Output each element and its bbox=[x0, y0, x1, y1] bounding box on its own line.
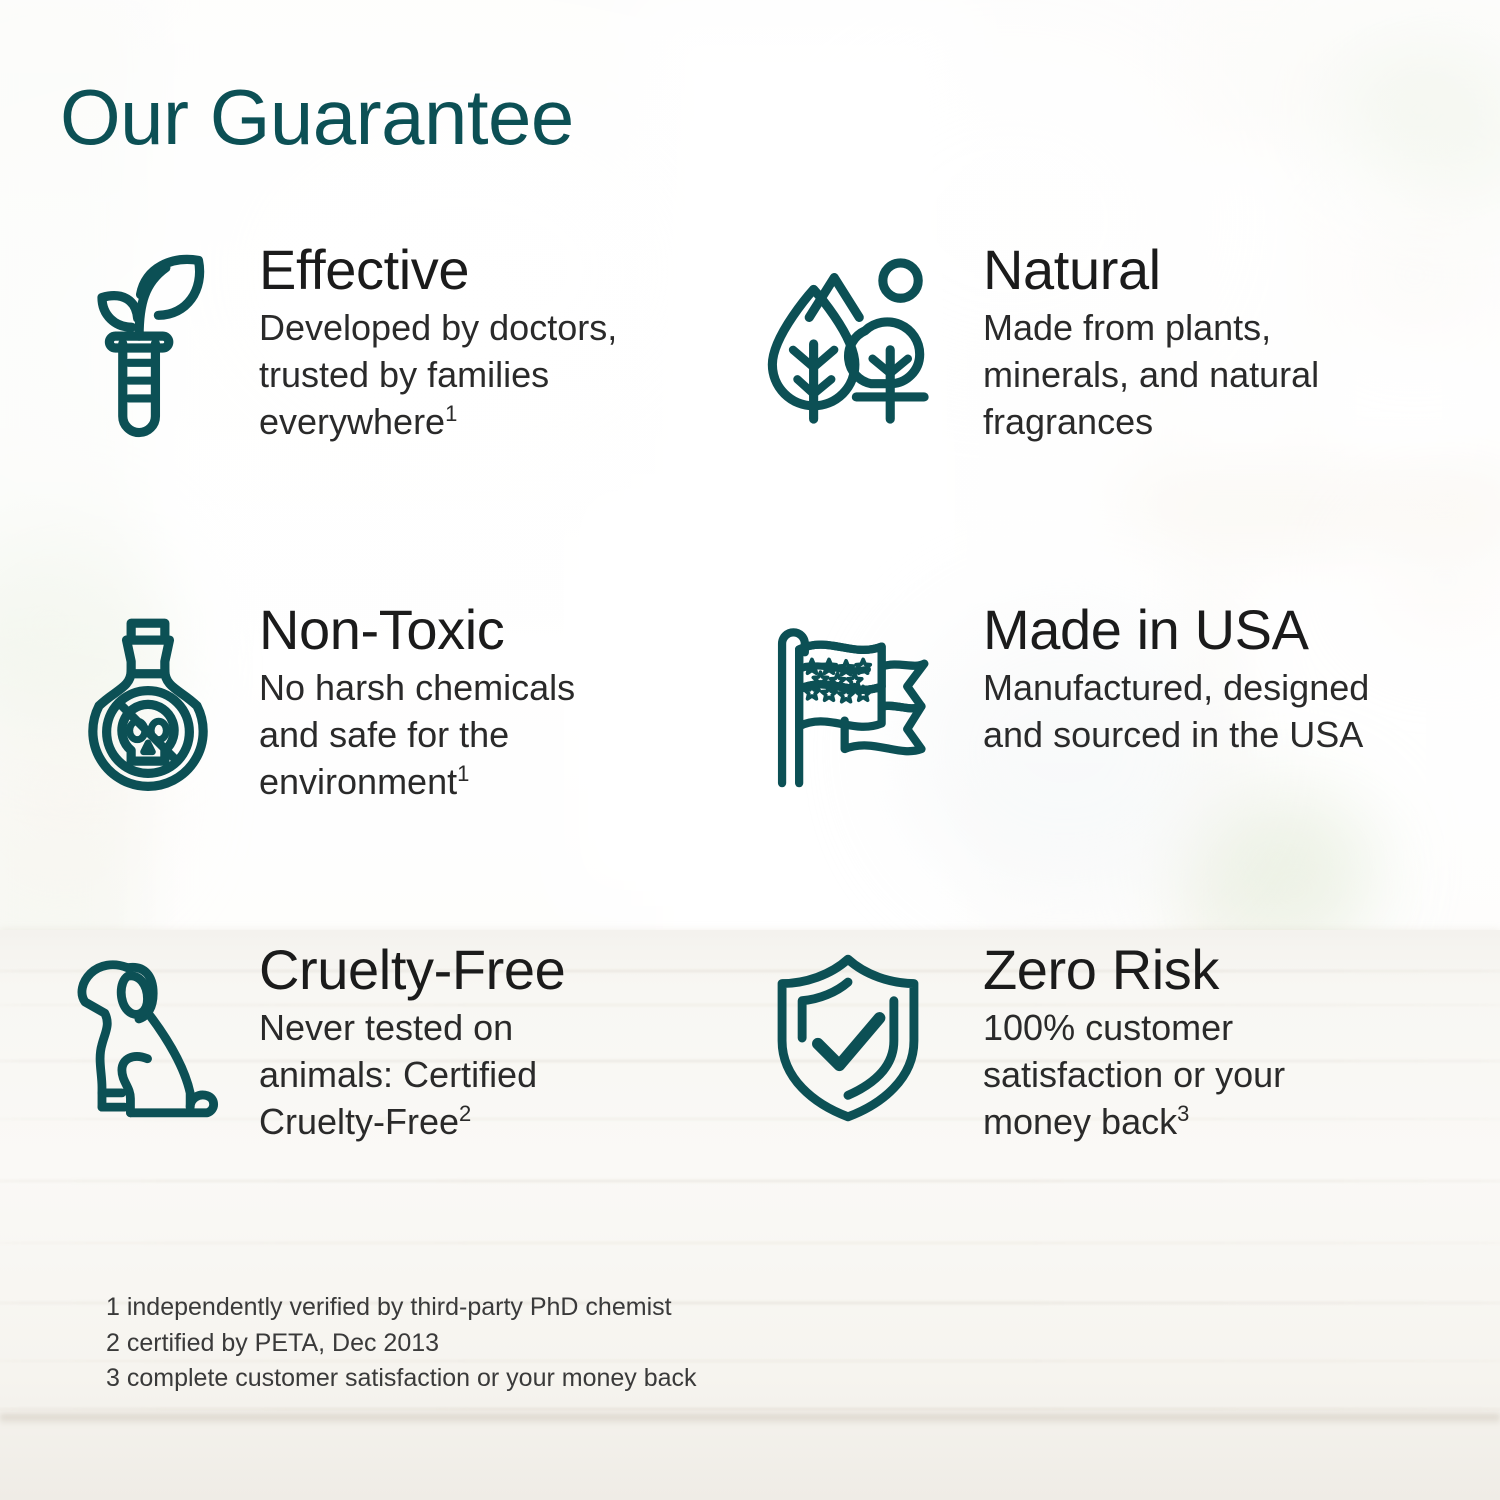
footnotes: 1 independently verified by third-party … bbox=[106, 1290, 697, 1397]
feature-text: Zero Risk 100% customer satisfaction or … bbox=[959, 940, 1440, 1146]
feature-body-line: minerals, and natural bbox=[983, 354, 1319, 395]
feature-body: 100% customer satisfaction or your money… bbox=[983, 1005, 1440, 1145]
feature-heading: Made in USA bbox=[983, 600, 1440, 659]
footnote-marker: 1 bbox=[457, 761, 469, 786]
trees-mountain-sun-icon bbox=[760, 240, 935, 427]
feature-body-line: everywhere bbox=[259, 401, 445, 442]
feature-zero-risk: Zero Risk 100% customer satisfaction or … bbox=[760, 940, 1440, 1240]
feature-body-line: satisfaction or your bbox=[983, 1054, 1285, 1095]
feature-body-line: Manufactured, designed bbox=[983, 667, 1369, 708]
feature-heading: Effective bbox=[259, 240, 760, 299]
feature-body-line: 100% customer bbox=[983, 1007, 1233, 1048]
feature-body-line: Never tested on bbox=[259, 1007, 513, 1048]
feature-cruelty-free: Cruelty-Free Never tested on animals: Ce… bbox=[60, 940, 760, 1240]
feature-body: No harsh chemicals and safe for the envi… bbox=[259, 665, 760, 805]
footnote-marker: 3 bbox=[1177, 1101, 1189, 1126]
footnote-item: 2 certified by PETA, Dec 2013 bbox=[106, 1326, 697, 1362]
feature-text: Cruelty-Free Never tested on animals: Ce… bbox=[259, 940, 760, 1146]
feature-body-line: No harsh chemicals bbox=[259, 667, 575, 708]
footnote-item: 3 complete customer satisfaction or your… bbox=[106, 1361, 697, 1397]
content-layer: Our Guarantee Effective bbox=[0, 0, 1500, 1500]
footnote-item: 1 independently verified by third-party … bbox=[106, 1290, 697, 1326]
feature-effective: Effective Developed by doctors, trusted … bbox=[60, 240, 760, 600]
guarantee-infographic: Our Guarantee Effective bbox=[0, 0, 1500, 1500]
feature-body-line: fragrances bbox=[983, 401, 1153, 442]
feature-non-toxic: Non-Toxic No harsh chemicals and safe fo… bbox=[60, 600, 760, 940]
feature-body: Manufactured, designed and sourced in th… bbox=[983, 665, 1440, 759]
feature-text: Made in USA Manufactured, designed and s… bbox=[959, 600, 1440, 759]
feature-body-line: money back bbox=[983, 1101, 1177, 1142]
usa-flag-icon bbox=[760, 600, 935, 791]
feature-made-in-usa: Made in USA Manufactured, designed and s… bbox=[760, 600, 1440, 940]
feature-body: Never tested on animals: Certified Cruel… bbox=[259, 1005, 760, 1145]
feature-body-line: Cruelty-Free bbox=[259, 1101, 459, 1142]
test-tube-leaf-icon bbox=[60, 240, 235, 440]
shield-check-icon bbox=[760, 940, 935, 1124]
feature-text: Effective Developed by doctors, trusted … bbox=[259, 240, 760, 446]
feature-body-line: trusted by families bbox=[259, 354, 549, 395]
feature-body: Developed by doctors, trusted by familie… bbox=[259, 305, 760, 445]
feature-body: Made from plants, minerals, and natural … bbox=[983, 305, 1440, 445]
page-title: Our Guarantee bbox=[60, 78, 574, 156]
footnote-marker: 1 bbox=[445, 401, 457, 426]
feature-heading: Zero Risk bbox=[983, 940, 1440, 999]
sitting-dog-icon bbox=[60, 940, 235, 1122]
feature-text: Natural Made from plants, minerals, and … bbox=[959, 240, 1440, 446]
feature-body-line: Developed by doctors, bbox=[259, 307, 617, 348]
feature-body-line: animals: Certified bbox=[259, 1054, 537, 1095]
feature-body-line: and safe for the bbox=[259, 714, 509, 755]
feature-heading: Non-Toxic bbox=[259, 600, 760, 659]
features-grid: Effective Developed by doctors, trusted … bbox=[60, 240, 1440, 1240]
feature-heading: Cruelty-Free bbox=[259, 940, 760, 999]
footnote-marker: 2 bbox=[459, 1101, 471, 1126]
poison-bottle-no-skull-icon bbox=[60, 600, 235, 804]
feature-body-line: and sourced in the USA bbox=[983, 714, 1363, 755]
feature-body-line: Made from plants, bbox=[983, 307, 1271, 348]
feature-natural: Natural Made from plants, minerals, and … bbox=[760, 240, 1440, 600]
feature-text: Non-Toxic No harsh chemicals and safe fo… bbox=[259, 600, 760, 806]
feature-heading: Natural bbox=[983, 240, 1440, 299]
feature-body-line: environment bbox=[259, 761, 457, 802]
